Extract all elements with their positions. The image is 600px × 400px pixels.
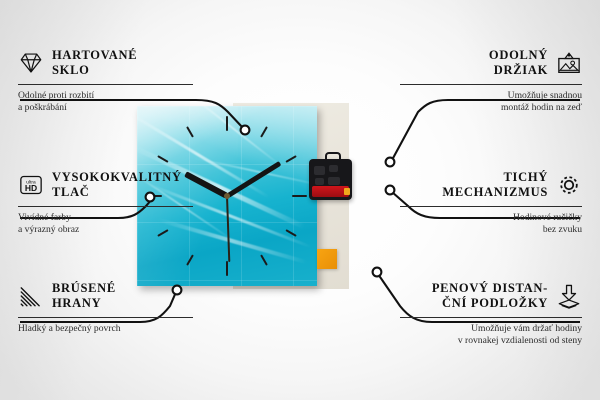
infographic-canvas: HARTOVANÉ SKLO Odolné proti rozbití a po…: [0, 0, 600, 400]
feature-subtitle-line-2: v rovnakej vzdialenosti od steny: [400, 335, 582, 348]
feature-title-line-2: HRANY: [52, 296, 116, 311]
connector-dot-top-right: [386, 158, 395, 167]
feature-durable-hanger: ODOLNÝ DRŽIAK Umožňuje snadnou montáž ho…: [400, 48, 582, 115]
feature-title-line-2: SKLO: [52, 63, 137, 78]
feature-title-line-1: HARTOVANÉ: [52, 48, 137, 63]
feature-subtitle-line-1: Umožňuje snadnou: [400, 90, 582, 103]
feature-title-line-1: ODOLNÝ: [489, 48, 548, 63]
feature-subtitle-line-2: bez zvuku: [400, 224, 582, 237]
picture-hanger-icon: [556, 50, 582, 76]
clock-center-pin: [224, 193, 230, 199]
feature-title-line-1: BRÚSENÉ: [52, 281, 116, 296]
badge-bottom-text: HD: [25, 183, 37, 193]
connector-dot-bottom-right: [373, 268, 382, 277]
feature-subtitle-line-2: montáž hodin na zeď: [400, 102, 582, 115]
feature-subtitle-line-1: Odolné proti rozbití: [18, 90, 193, 103]
feature-title-line-1: VYSOKOKVALITNÝ: [52, 170, 182, 185]
gear-icon: [556, 172, 582, 198]
feature-subtitle-line-1: Umožňuje vám držať hodiny: [400, 323, 582, 336]
foam-spacer-pad: [317, 249, 337, 269]
feature-high-quality-print: ultra HD VYSOKOKVALITNÝ TLAČ Vivídné far…: [18, 170, 193, 237]
feature-ground-edges: BRÚSENÉ HRANY Hladký a bezpečný povrch: [18, 281, 193, 335]
feature-foam-spacers: PENOVÝ DISTAN- ČNÍ PODLOŽKY Umožňuje vám…: [400, 281, 582, 348]
feature-divider: [400, 84, 582, 85]
feature-tempered-glass: HARTOVANÉ SKLO Odolné proti rozbití a po…: [18, 48, 193, 115]
feature-title-line-1: PENOVÝ DISTAN-: [432, 281, 548, 296]
press-down-icon: [556, 283, 582, 309]
feature-subtitle-line-1: Hladký a bezpečný povrch: [18, 323, 193, 336]
ultra-hd-badge-icon: ultra HD: [18, 172, 44, 198]
feature-divider: [18, 206, 193, 207]
feature-title-line-2: TLAČ: [52, 185, 182, 200]
diamond-icon: [18, 50, 44, 76]
ground-edges-icon: [18, 283, 44, 309]
feature-divider: [400, 206, 582, 207]
feature-title-line-1: TICHÝ: [442, 170, 548, 185]
feature-subtitle-line-1: Hodinové ručičky: [400, 212, 582, 225]
feature-title-line-2: ČNÍ PODLOŽKY: [432, 296, 548, 311]
feature-subtitle-line-2: a výrazný obraz: [18, 224, 193, 237]
feature-subtitle-line-1: Vivídné farby: [18, 212, 193, 225]
feature-title-line-2: MECHANIZMUS: [442, 185, 548, 200]
feature-silent-mechanism: TICHÝ MECHANIZMUS Hodinové ručičky bez z…: [400, 170, 582, 237]
feature-subtitle-line-2: a poškrábání: [18, 102, 193, 115]
connector-dot-mid-right: [386, 186, 395, 195]
mechanism-hanger: [325, 152, 341, 162]
feature-divider: [400, 317, 582, 318]
clock-mechanism: [309, 159, 352, 200]
feature-title-line-2: DRŽIAK: [489, 63, 548, 78]
battery: [312, 186, 349, 197]
feature-divider: [18, 84, 193, 85]
feature-divider: [18, 317, 193, 318]
